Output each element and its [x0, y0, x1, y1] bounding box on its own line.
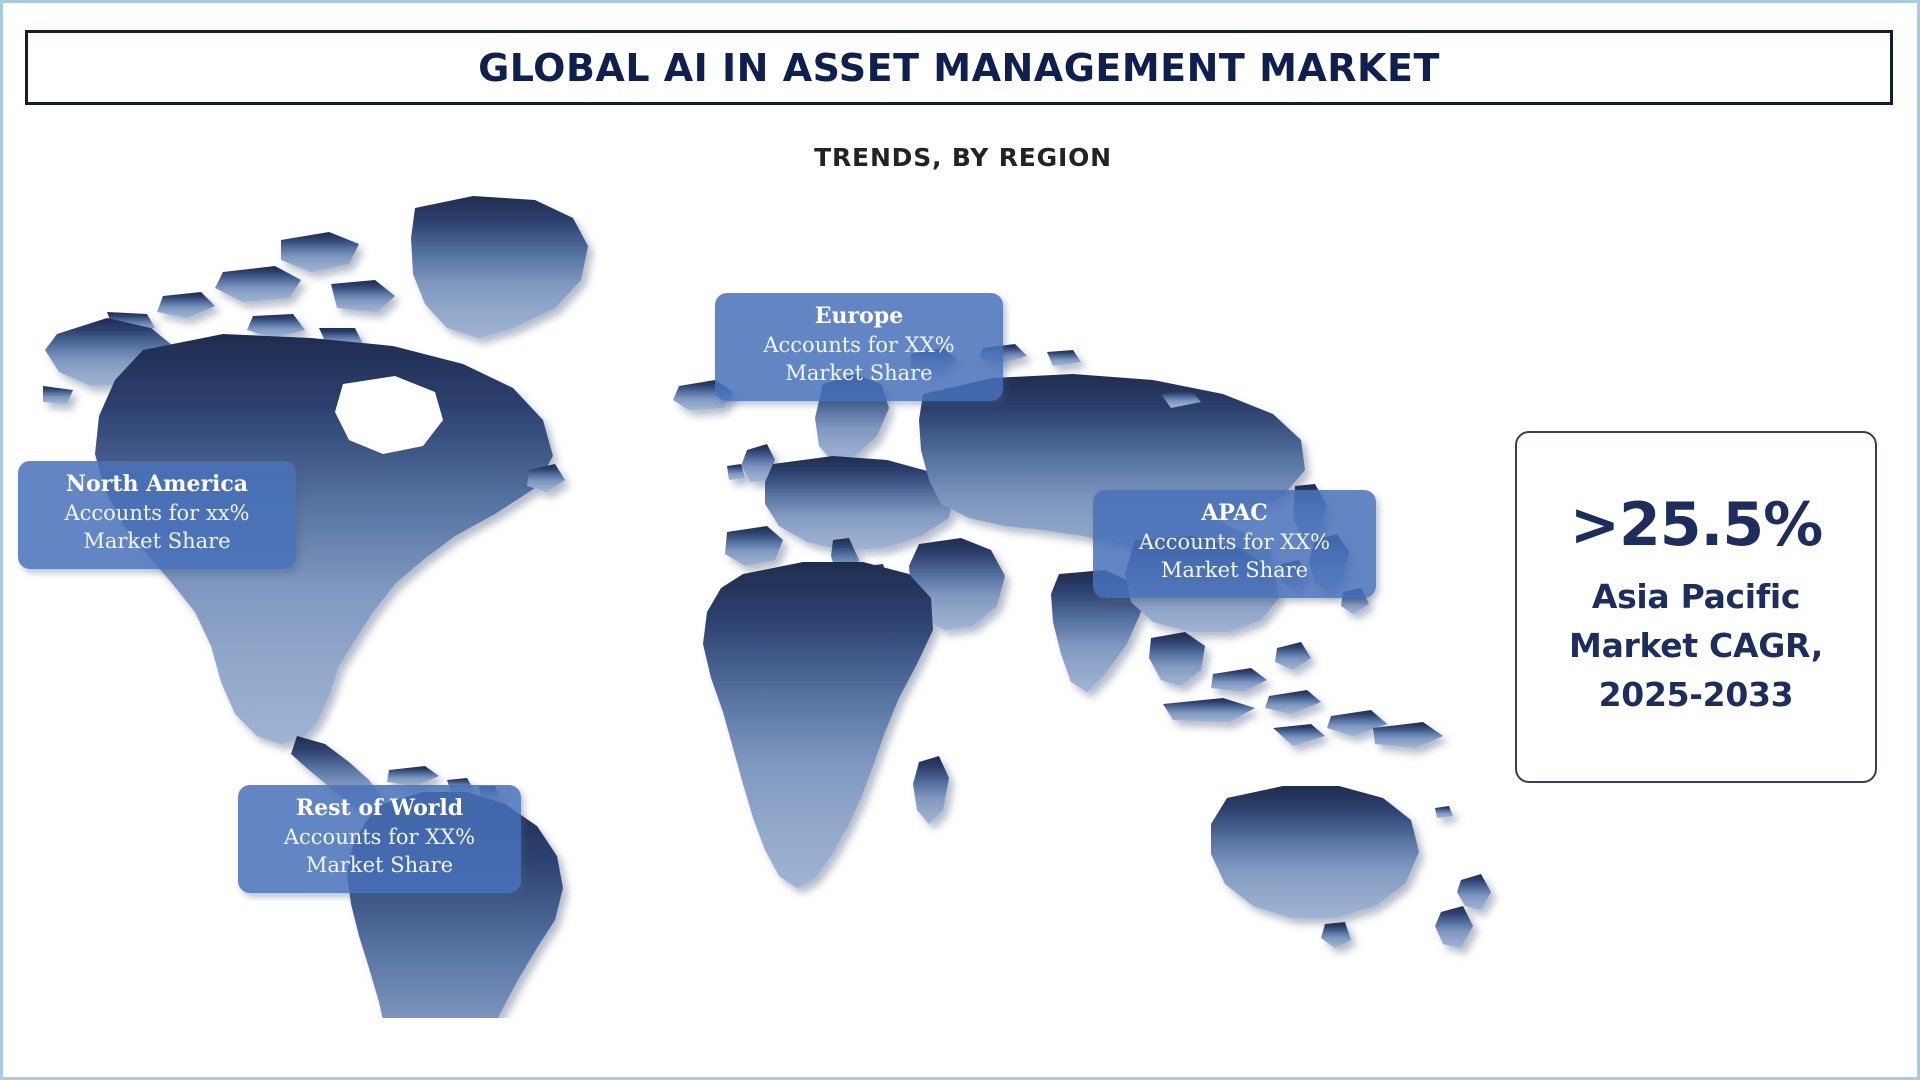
region-share-line: Accounts for xx% [32, 500, 282, 528]
region-name: Europe [729, 302, 989, 331]
region-callout-rest-of-world[interactable]: Rest of World Accounts for XX% Market Sh… [238, 785, 521, 893]
infographic-root: GLOBAL AI IN ASSET MANAGEMENT MARKET TRE… [0, 0, 1920, 1080]
cagr-period-label: 2025-2033 [1599, 671, 1794, 720]
cagr-metric-label: Market CAGR, [1569, 622, 1823, 671]
region-share-line: Accounts for XX% [1107, 529, 1362, 557]
page-subtitle: TRENDS, BY REGION [3, 143, 1920, 172]
region-name: North America [32, 470, 282, 499]
title-box: GLOBAL AI IN ASSET MANAGEMENT MARKET [25, 30, 1893, 105]
cagr-value: >25.5% [1570, 494, 1822, 557]
region-callout-north-america[interactable]: North America Accounts for xx% Market Sh… [18, 461, 296, 569]
region-share-line: Accounts for XX% [729, 332, 989, 360]
page-title: GLOBAL AI IN ASSET MANAGEMENT MARKET [478, 46, 1440, 90]
region-callout-apac[interactable]: APAC Accounts for XX% Market Share [1093, 490, 1376, 598]
region-name: APAC [1107, 499, 1362, 528]
cagr-highlight-box: >25.5% Asia Pacific Market CAGR, 2025-20… [1515, 431, 1877, 783]
region-share-sublabel: Market Share [252, 852, 507, 880]
region-callout-europe[interactable]: Europe Accounts for XX% Market Share [715, 293, 1003, 401]
region-name: Rest of World [252, 794, 507, 823]
region-share-sublabel: Market Share [1107, 557, 1362, 585]
region-share-line: Accounts for XX% [252, 824, 507, 852]
cagr-region-label: Asia Pacific [1592, 573, 1800, 622]
region-share-sublabel: Market Share [32, 528, 282, 556]
region-share-sublabel: Market Share [729, 360, 989, 388]
